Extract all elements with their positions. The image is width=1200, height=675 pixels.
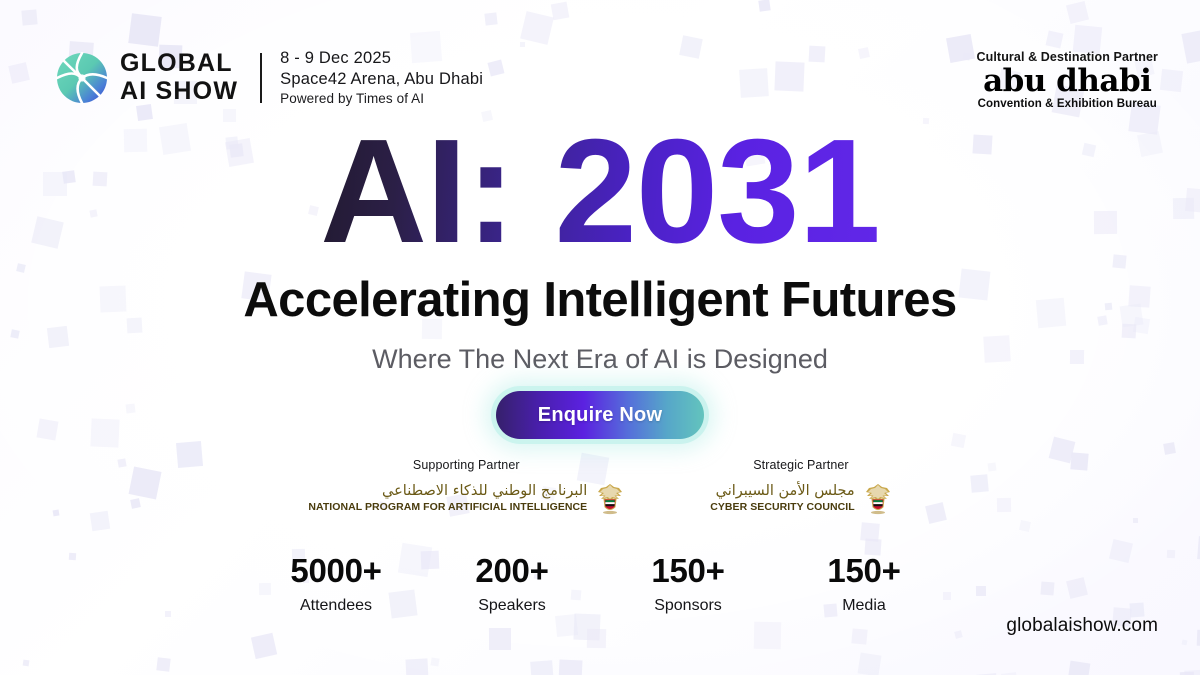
website-url[interactable]: globalaishow.com: [1006, 615, 1158, 637]
brand-name-line1: GLOBAL: [120, 51, 238, 76]
supporting-partner-english: NATIONAL PROGRAM FOR ARTIFICIAL INTELLIG…: [308, 501, 587, 513]
stat-value: 150+: [818, 552, 910, 590]
strategic-partner-caption: Strategic Partner: [710, 458, 891, 472]
stat-label: Sponsors: [642, 597, 734, 615]
cta-glow-ring: Enquire Now: [491, 386, 709, 444]
diamond-shape: [520, 42, 525, 47]
diamond-shape: [156, 657, 171, 672]
diamond-shape: [963, 53, 970, 60]
stat-speakers: 200+ Speakers: [466, 552, 558, 615]
diamond-shape: [128, 13, 162, 47]
diamond-shape: [1181, 28, 1200, 63]
diamond-shape: [1133, 518, 1138, 523]
diamond-shape: [860, 522, 879, 541]
diamond-shape: [754, 622, 781, 649]
diamond-shape: [858, 47, 870, 59]
diamond-shape: [573, 613, 600, 640]
stat-label: Speakers: [466, 597, 558, 615]
diamond-shape: [1066, 1, 1089, 24]
brand-name-line2: AI SHOW: [120, 79, 238, 104]
hero-tagline: Accelerating Intelligent Futures: [0, 272, 1200, 328]
diamond-shape: [21, 9, 37, 25]
diamond-shape: [739, 68, 769, 98]
uae-falcon-emblem-icon: [596, 481, 624, 515]
event-venue: Space42 Arena, Abu Dhabi: [280, 69, 483, 90]
diamond-shape: [758, 0, 771, 12]
diamond-shape: [1046, 31, 1064, 49]
stat-value: 200+: [466, 552, 558, 590]
uae-falcon-emblem-icon: [864, 481, 892, 515]
page-title: AI: 2031: [320, 118, 880, 266]
diamond-shape: [487, 59, 504, 76]
diamond-shape: [484, 12, 497, 25]
stat-value: 5000+: [290, 552, 382, 590]
diamond-shape: [430, 657, 439, 666]
supporting-partner-caption: Supporting Partner: [308, 458, 624, 472]
diamond-shape: [679, 35, 702, 58]
stat-label: Attendees: [290, 597, 382, 615]
cta-section: Enquire Now: [0, 386, 1200, 444]
diamond-shape: [1184, 669, 1200, 675]
diamond-shape: [23, 660, 30, 667]
diamond-shape: [555, 614, 577, 636]
brand-header: GLOBAL AI SHOW 8 - 9 Dec 2025 Space42 Ar…: [56, 48, 483, 107]
stat-sponsors: 150+ Sponsors: [642, 552, 734, 615]
diamond-shape: [8, 62, 29, 83]
stats-row: 5000+ Attendees 200+ Speakers 150+ Spons…: [0, 552, 1200, 615]
destination-partner-brand: abu dhabi: [977, 65, 1159, 98]
diamond-shape: [405, 658, 428, 675]
event-powered-by: Powered by Times of AI: [280, 90, 483, 107]
diamond-shape: [1160, 69, 1183, 92]
diamond-shape: [954, 630, 963, 639]
globe-sphere-icon: [56, 52, 108, 104]
diamond-shape: [251, 633, 277, 659]
stat-label: Media: [818, 597, 910, 615]
event-dates: 8 - 9 Dec 2025: [280, 48, 483, 69]
supporting-partner-block: Supporting Partner البرنامج الوطني للذكا…: [308, 458, 624, 515]
diamond-shape: [489, 628, 511, 650]
hero-section: AI: 2031 Accelerating Intelligent Future…: [0, 118, 1200, 375]
partners-row: Supporting Partner البرنامج الوطني للذكا…: [0, 458, 1200, 515]
header-divider: [260, 53, 262, 103]
hero-subtagline: Where The Next Era of AI is Designed: [0, 344, 1200, 375]
destination-partner-caption: Cultural & Destination Partner: [977, 50, 1159, 64]
diamond-shape: [1182, 640, 1188, 646]
stat-value: 150+: [642, 552, 734, 590]
diamond-shape: [1068, 661, 1091, 675]
diamond-shape: [851, 628, 867, 644]
brand-wordmark: GLOBAL AI SHOW: [120, 51, 238, 104]
destination-partner-subtitle: Convention & Exhibition Bureau: [977, 98, 1159, 110]
diamond-shape: [809, 46, 825, 62]
diamond-shape: [558, 659, 582, 675]
diamond-shape: [946, 34, 975, 63]
strategic-partner-arabic: مجلس الأمن السيبراني: [710, 483, 854, 500]
strategic-partner-block: Strategic Partner مجلس الأمن السيبراني C…: [710, 458, 891, 515]
poster-canvas: GLOBAL AI SHOW 8 - 9 Dec 2025 Space42 Ar…: [0, 0, 1200, 675]
strategic-partner-english: CYBER SECURITY COUNCIL: [710, 501, 854, 513]
diamond-shape: [774, 61, 804, 91]
supporting-partner-arabic: البرنامج الوطني للذكاء الاصطناعي: [308, 483, 587, 500]
event-info: 8 - 9 Dec 2025 Space42 Arena, Abu Dhabi …: [280, 48, 483, 107]
enquire-now-button[interactable]: Enquire Now: [496, 391, 704, 439]
diamond-shape: [858, 653, 882, 675]
destination-partner-block: Cultural & Destination Partner abu dhabi…: [977, 50, 1159, 110]
stat-attendees: 5000+ Attendees: [290, 552, 382, 615]
diamond-shape: [530, 660, 554, 675]
stat-media: 150+ Media: [818, 552, 910, 615]
diamond-shape: [587, 629, 606, 648]
diamond-shape: [1019, 520, 1031, 532]
diamond-shape: [520, 11, 554, 45]
diamond-shape: [551, 2, 569, 20]
